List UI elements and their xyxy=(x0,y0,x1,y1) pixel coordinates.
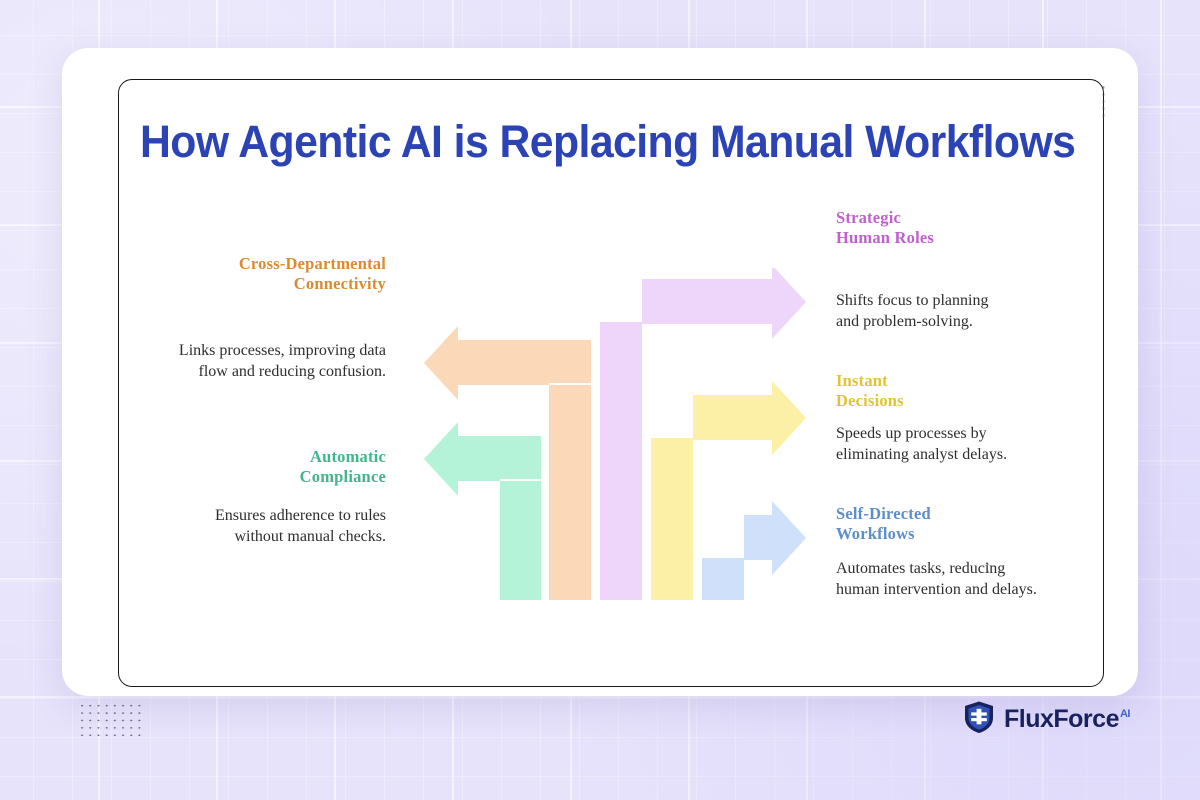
block-body: Ensures adherence to rules without manua… xyxy=(133,505,386,547)
body-line-1: Automates tasks, reducing xyxy=(836,558,1116,579)
body-line-2: without manual checks. xyxy=(133,526,386,547)
block-cross-departmental-connectivity: Cross-Departmental Connectivity Links pr… xyxy=(86,254,386,382)
bent-arrow-diagram xyxy=(410,268,820,608)
body-line-1: Links processes, improving data xyxy=(86,340,386,361)
heading-line-1: Automatic xyxy=(133,447,386,467)
body-line-2: human intervention and delays. xyxy=(836,579,1116,600)
logo-name: FluxForce xyxy=(1004,705,1119,733)
body-line-1: Speeds up processes by xyxy=(836,423,1116,444)
logo-superscript: AI xyxy=(1120,708,1130,720)
heading-line-2: Compliance xyxy=(133,467,386,487)
block-heading: Cross-Departmental Connectivity xyxy=(86,254,386,294)
block-body: Automates tasks, reducing human interven… xyxy=(836,558,1116,600)
decorative-dots-top-right xyxy=(1101,84,1107,120)
heading-line-1: Cross-Departmental xyxy=(86,254,386,274)
shield-icon xyxy=(963,700,995,739)
heading-line-1: Strategic xyxy=(836,208,1116,228)
block-self-directed-workflows: Self-Directed Workflows Automates tasks,… xyxy=(836,504,1116,600)
heading-line-2: Workflows xyxy=(836,524,1116,544)
body-line-1: Shifts focus to planning xyxy=(836,290,1116,311)
block-automatic-compliance: Automatic Compliance Ensures adherence t… xyxy=(133,447,386,547)
brand-logo: FluxForceAI xyxy=(963,699,1129,739)
heading-line-2: Connectivity xyxy=(86,274,386,294)
decorative-dots-middle xyxy=(985,561,990,575)
block-heading: Strategic Human Roles xyxy=(836,208,1116,248)
block-heading: Instant Decisions xyxy=(836,371,1116,411)
arrow-shaft xyxy=(549,385,591,600)
arrow-self-directed-workflows xyxy=(702,501,806,600)
block-heading: Automatic Compliance xyxy=(133,447,386,487)
body-line-2: flow and reducing confusion. xyxy=(86,361,386,382)
heading-line-2: Human Roles xyxy=(836,228,1116,248)
decorative-dot-grid xyxy=(78,702,144,739)
body-line-2: and problem-solving. xyxy=(836,311,1116,332)
arrow-shaft xyxy=(500,481,541,600)
arrow-shaft xyxy=(651,440,693,600)
arrow-automatic-compliance xyxy=(424,422,541,600)
logo-wordmark: FluxForceAI xyxy=(1004,705,1129,734)
heading-line-2: Decisions xyxy=(836,391,1116,411)
block-body: Links processes, improving data flow and… xyxy=(86,340,386,382)
heading-line-1: Instant xyxy=(836,371,1116,391)
arrow-shaft xyxy=(702,560,744,600)
block-body: Speeds up processes by eliminating analy… xyxy=(836,423,1116,465)
block-strategic-human-roles: Strategic Human Roles Shifts focus to pl… xyxy=(836,208,1116,332)
block-heading: Self-Directed Workflows xyxy=(836,504,1116,544)
body-line-1: Ensures adherence to rules xyxy=(133,505,386,526)
body-line-2: eliminating analyst delays. xyxy=(836,444,1116,465)
heading-line-1: Self-Directed xyxy=(836,504,1116,524)
block-body: Shifts focus to planning and problem-sol… xyxy=(836,290,1116,332)
arrow-shaft xyxy=(600,324,642,600)
block-instant-decisions: Instant Decisions Speeds up processes by… xyxy=(836,371,1116,465)
page-title: How Agentic AI is Replacing Manual Workf… xyxy=(140,116,1033,168)
